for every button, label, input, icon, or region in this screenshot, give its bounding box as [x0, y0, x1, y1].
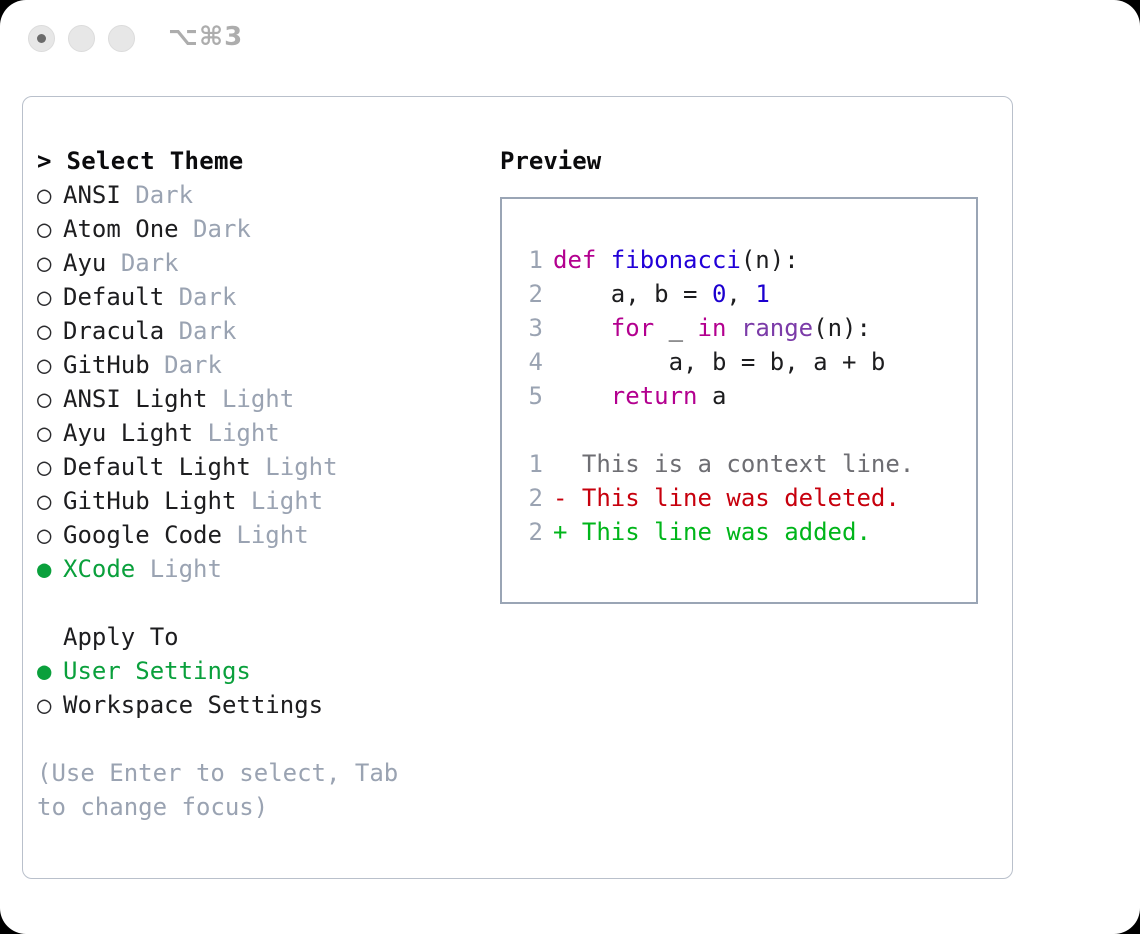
radio-selected-icon: ●	[37, 654, 63, 688]
apply-to-option[interactable]: ●User Settings	[37, 654, 497, 688]
radio-unselected-icon: ○	[37, 212, 63, 246]
code-token	[726, 314, 740, 342]
theme-name-label: Dracula	[63, 317, 164, 345]
code-token: return	[611, 382, 698, 410]
preview-heading: Preview	[500, 144, 1000, 178]
code-line: 5 return a	[515, 379, 970, 413]
keyboard-hint-text: (Use Enter to select, Tab to change focu…	[37, 756, 437, 824]
theme-list: ○ANSI Dark○Atom One Dark○Ayu Dark○Defaul…	[37, 178, 497, 586]
line-number: 5	[515, 379, 543, 413]
keyboard-shortcut-label: ⌥⌘3	[168, 22, 243, 52]
theme-kind-label: Dark	[164, 351, 222, 379]
radio-unselected-icon: ○	[37, 416, 63, 450]
diff-line: 2- This line was deleted.	[515, 481, 970, 515]
diff-line: 1 This is a context line.	[515, 447, 970, 481]
radio-unselected-icon: ○	[37, 382, 63, 416]
diff-line: 2+ This line was added.	[515, 515, 970, 549]
theme-selection-column: > Select Theme ○ANSI Dark○Atom One Dark○…	[37, 144, 497, 824]
theme-name-label: Default Light	[63, 453, 251, 481]
code-spacer	[515, 413, 970, 447]
theme-list-item[interactable]: ○Default Dark	[37, 280, 497, 314]
theme-name-label: XCode	[63, 555, 135, 583]
code-token: 1	[755, 280, 769, 308]
theme-kind-label: Dark	[179, 283, 237, 311]
theme-list-item[interactable]: ○Google Code Light	[37, 518, 497, 552]
radio-unselected-icon: ○	[37, 348, 63, 382]
line-number: 4	[515, 345, 543, 379]
theme-name-label: Google Code	[63, 521, 222, 549]
code-token: in	[698, 314, 727, 342]
title-bar: ⌥⌘3	[0, 0, 1140, 80]
theme-name-label: ANSI	[63, 181, 121, 209]
code-token	[553, 382, 611, 410]
radio-selected-icon: ●	[37, 552, 63, 586]
app-window: ⌥⌘3 > Select Theme ○ANSI Dark○Atom One D…	[0, 0, 1140, 934]
code-token: a, b = b, a + b	[553, 348, 885, 376]
theme-kind-label: Light	[208, 419, 280, 447]
line-number: 3	[515, 311, 543, 345]
code-token	[553, 314, 611, 342]
theme-kind-label: Dark	[193, 215, 251, 243]
radio-unselected-icon: ○	[37, 450, 63, 484]
diff-sign	[553, 450, 567, 478]
theme-kind-label: Light	[150, 555, 222, 583]
theme-kind-label: Light	[222, 385, 294, 413]
theme-kind-label: Light	[251, 487, 323, 515]
code-token: range	[741, 314, 813, 342]
code-line: 4 a, b = b, a + b	[515, 345, 970, 379]
radio-unselected-icon: ○	[37, 518, 63, 552]
diff-sign: +	[553, 518, 567, 546]
code-token: a	[698, 382, 727, 410]
record-dot-icon	[37, 34, 46, 43]
code-token: for	[611, 314, 654, 342]
theme-name-label: ANSI Light	[63, 385, 208, 413]
theme-list-item[interactable]: ○Atom One Dark	[37, 212, 497, 246]
theme-list-item[interactable]: ○GitHub Dark	[37, 348, 497, 382]
apply-to-label: Workspace Settings	[63, 691, 323, 719]
apply-to-option[interactable]: ○Workspace Settings	[37, 688, 497, 722]
theme-name-label: GitHub	[63, 351, 150, 379]
radio-unselected-icon: ○	[37, 178, 63, 212]
code-line: 3 for _ in range(n):	[515, 311, 970, 345]
window-button-3[interactable]	[108, 25, 135, 52]
tui-panel: > Select Theme ○ANSI Dark○Atom One Dark○…	[22, 96, 1013, 879]
panel-body: > Select Theme ○ANSI Dark○Atom One Dark○…	[23, 97, 1012, 878]
line-number: 2	[515, 277, 543, 311]
code-token: ,	[726, 280, 755, 308]
apply-to-label: User Settings	[63, 657, 251, 685]
code-token: _	[654, 314, 697, 342]
apply-to-heading: Apply To	[37, 620, 497, 654]
theme-list-item[interactable]: ○Dracula Dark	[37, 314, 497, 348]
select-theme-heading: > Select Theme	[37, 144, 497, 178]
code-token: a, b =	[553, 280, 712, 308]
radio-unselected-icon: ○	[37, 484, 63, 518]
diff-snippet: 1 This is a context line.2- This line wa…	[515, 447, 970, 549]
code-line: 2 a, b = 0, 1	[515, 277, 970, 311]
theme-name-label: Default	[63, 283, 164, 311]
radio-unselected-icon: ○	[37, 314, 63, 348]
code-token: (n):	[741, 246, 799, 274]
code-token: def	[553, 246, 611, 274]
theme-list-item[interactable]: ○Ayu Dark	[37, 246, 497, 280]
theme-kind-label: Dark	[135, 181, 193, 209]
theme-name-label: GitHub Light	[63, 487, 236, 515]
theme-name-label: Atom One	[63, 215, 179, 243]
theme-kind-label: Light	[265, 453, 337, 481]
theme-list-item[interactable]: ○GitHub Light Light	[37, 484, 497, 518]
code-token: fibonacci	[611, 246, 741, 274]
preview-box: 1def fibonacci(n):2 a, b = 0, 13 for _ i…	[500, 197, 978, 604]
theme-list-item[interactable]: ○ANSI Light Light	[37, 382, 497, 416]
theme-name-label: Ayu Light	[63, 419, 193, 447]
line-number: 1	[515, 447, 543, 481]
code-snippet: 1def fibonacci(n):2 a, b = 0, 13 for _ i…	[515, 243, 970, 413]
theme-kind-label: Dark	[121, 249, 179, 277]
diff-text: This line was deleted.	[567, 484, 899, 512]
line-number: 1	[515, 243, 543, 277]
line-number: 2	[515, 515, 543, 549]
theme-kind-label: Dark	[179, 317, 237, 345]
line-number: 2	[515, 481, 543, 515]
apply-to-list: ●User Settings○Workspace Settings	[37, 654, 497, 722]
theme-name-label: Ayu	[63, 249, 106, 277]
theme-kind-label: Light	[236, 521, 308, 549]
window-button-1[interactable]	[28, 25, 55, 52]
window-button-2[interactable]	[68, 25, 95, 52]
window-controls	[28, 25, 135, 52]
theme-list-item[interactable]: ○ANSI Dark	[37, 178, 497, 212]
theme-list-item[interactable]: ●XCode Light	[37, 552, 497, 586]
diff-text: This is a context line.	[567, 450, 914, 478]
preview-column: Preview 1def fibonacci(n):2 a, b = 0, 13…	[500, 144, 1000, 604]
apply-to-section: Apply To ●User Settings○Workspace Settin…	[37, 620, 497, 722]
code-line: 1def fibonacci(n):	[515, 243, 970, 277]
theme-list-item[interactable]: ○Ayu Light Light	[37, 416, 497, 450]
radio-unselected-icon: ○	[37, 688, 63, 722]
diff-sign: -	[553, 484, 567, 512]
code-token: (n):	[813, 314, 871, 342]
code-preview-area: 1def fibonacci(n):2 a, b = 0, 13 for _ i…	[515, 243, 970, 549]
code-token: 0	[712, 280, 726, 308]
diff-text: This line was added.	[567, 518, 870, 546]
theme-list-item[interactable]: ○Default Light Light	[37, 450, 497, 484]
radio-unselected-icon: ○	[37, 246, 63, 280]
radio-unselected-icon: ○	[37, 280, 63, 314]
